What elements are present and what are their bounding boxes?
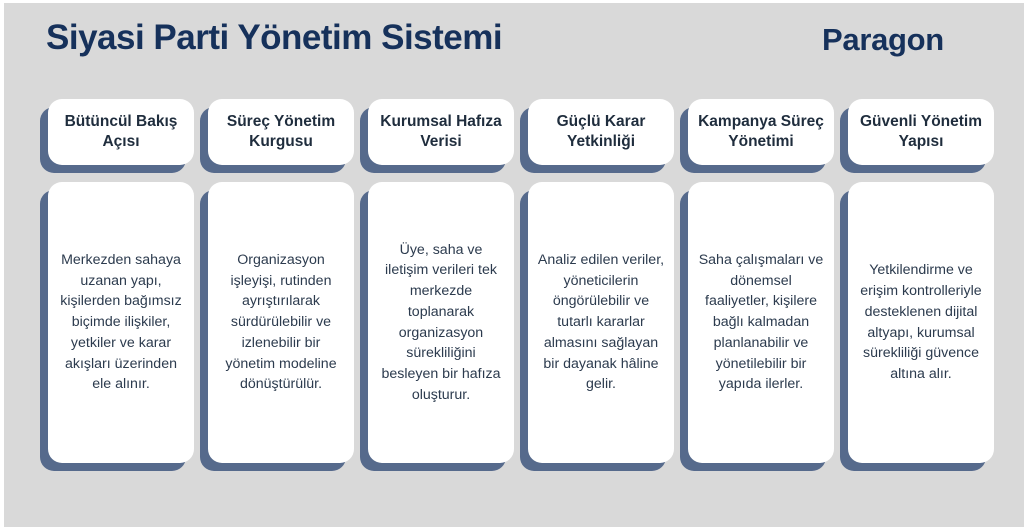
card-face: Üye, saha ve iletişim verileri tek merke… xyxy=(368,182,514,463)
feature-heading-card-1: Bütüncül Bakış Açısı xyxy=(48,99,194,165)
feature-body-card-3: Üye, saha ve iletişim verileri tek merke… xyxy=(368,182,514,463)
card-face: Güvenli Yönetim Yapısı xyxy=(848,99,994,165)
feature-heading-card-3: Kurumsal Hafıza Verisi xyxy=(368,99,514,165)
card-face: Bütüncül Bakış Açısı xyxy=(48,99,194,165)
feature-heading-2: Süreç Yönetim Kurgusu xyxy=(215,112,347,153)
feature-heading-card-6: Güvenli Yönetim Yapısı xyxy=(848,99,994,165)
feature-column-2: Süreç Yönetim Kurgusu Organizasyon işley… xyxy=(208,99,354,463)
feature-body-card-1: Merkezden sahaya uzanan yapı, kişilerden… xyxy=(48,182,194,463)
card-face: Merkezden sahaya uzanan yapı, kişilerden… xyxy=(48,182,194,463)
feature-body-card-5: Saha çalışmaları ve dönemsel faaliyetler… xyxy=(688,182,834,463)
brand-logo-text: Paragon xyxy=(822,22,944,58)
feature-columns: Bütüncül Bakış Açısı Merkezden sahaya uz… xyxy=(48,99,1008,479)
feature-column-4: Güçlü Karar Yetkinliği Analiz edilen ver… xyxy=(528,99,674,463)
card-face: Kampanya Süreç Yönetimi xyxy=(688,99,834,165)
card-face: Saha çalışmaları ve dönemsel faaliyetler… xyxy=(688,182,834,463)
card-face: Kurumsal Hafıza Verisi xyxy=(368,99,514,165)
feature-body-1: Merkezden sahaya uzanan yapı, kişilerden… xyxy=(57,250,185,395)
feature-body-4: Analiz edilen veriler, yöneticilerin öng… xyxy=(537,250,665,395)
page-title: Siyasi Parti Yönetim Sistemi xyxy=(46,18,502,58)
feature-body-card-2: Organizasyon işleyişi, rutinden ayrıştır… xyxy=(208,182,354,463)
feature-column-1: Bütüncül Bakış Açısı Merkezden sahaya uz… xyxy=(48,99,194,463)
feature-heading-4: Güçlü Karar Yetkinliği xyxy=(535,112,667,153)
feature-body-card-6: Yetkilendirme ve erişim kontrolleriyle d… xyxy=(848,182,994,463)
slide-header: Siyasi Parti Yönetim Sistemi Paragon xyxy=(4,3,1024,85)
feature-heading-card-5: Kampanya Süreç Yönetimi xyxy=(688,99,834,165)
card-face: Organizasyon işleyişi, rutinden ayrıştır… xyxy=(208,182,354,463)
feature-heading-1: Bütüncül Bakış Açısı xyxy=(55,112,187,153)
feature-body-5: Saha çalışmaları ve dönemsel faaliyetler… xyxy=(697,250,825,395)
feature-body-card-4: Analiz edilen veriler, yöneticilerin öng… xyxy=(528,182,674,463)
card-face: Yetkilendirme ve erişim kontrolleriyle d… xyxy=(848,182,994,463)
feature-column-5: Kampanya Süreç Yönetimi Saha çalışmaları… xyxy=(688,99,834,463)
card-face: Süreç Yönetim Kurgusu xyxy=(208,99,354,165)
feature-heading-3: Kurumsal Hafıza Verisi xyxy=(375,112,507,153)
card-face: Güçlü Karar Yetkinliği xyxy=(528,99,674,165)
feature-heading-6: Güvenli Yönetim Yapısı xyxy=(855,112,987,153)
feature-heading-5: Kampanya Süreç Yönetimi xyxy=(695,112,827,153)
slide-canvas: Siyasi Parti Yönetim Sistemi Paragon Büt… xyxy=(4,3,1024,527)
feature-body-2: Organizasyon işleyişi, rutinden ayrıştır… xyxy=(217,250,345,395)
card-face: Analiz edilen veriler, yöneticilerin öng… xyxy=(528,182,674,463)
feature-body-6: Yetkilendirme ve erişim kontrolleriyle d… xyxy=(857,260,985,384)
feature-body-3: Üye, saha ve iletişim verileri tek merke… xyxy=(377,240,505,406)
feature-column-3: Kurumsal Hafıza Verisi Üye, saha ve ilet… xyxy=(368,99,514,463)
feature-heading-card-2: Süreç Yönetim Kurgusu xyxy=(208,99,354,165)
feature-column-6: Güvenli Yönetim Yapısı Yetkilendirme ve … xyxy=(848,99,994,463)
feature-heading-card-4: Güçlü Karar Yetkinliği xyxy=(528,99,674,165)
